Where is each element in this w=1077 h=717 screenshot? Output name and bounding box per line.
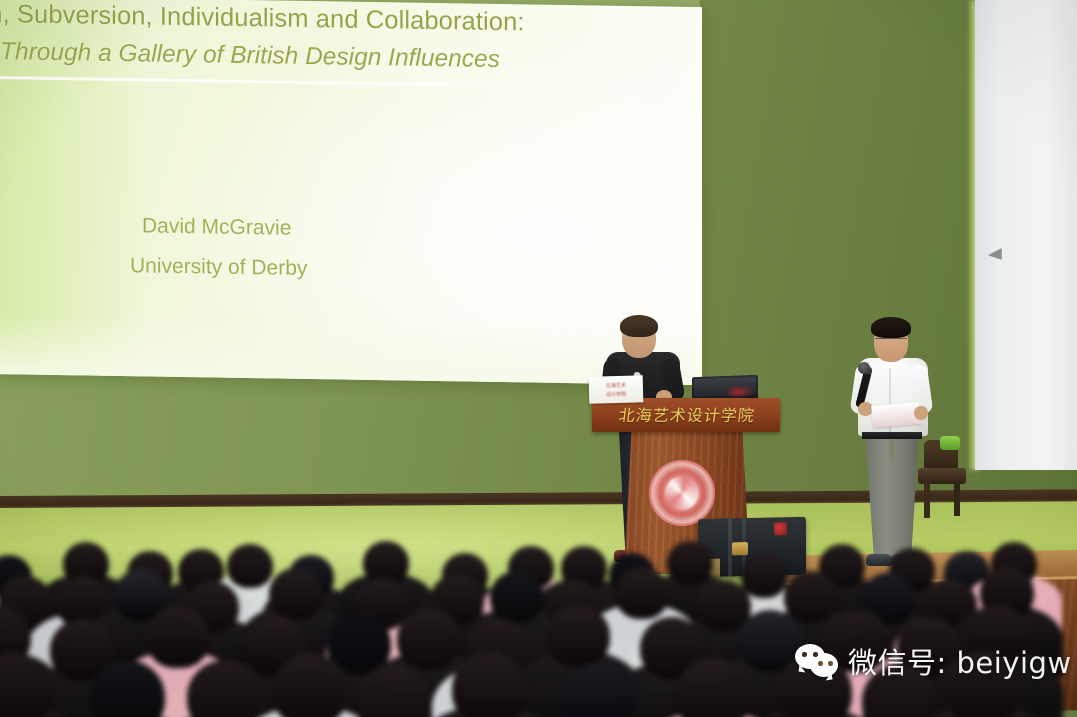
speaker-name-card: 北海艺术 设计学院 <box>589 375 644 403</box>
wechat-watermark-text: 微信号: beiyigw <box>848 640 1072 682</box>
slide-presenter-affiliation: University of Derby <box>130 254 307 281</box>
wechat-logo-icon <box>795 644 839 678</box>
wechat-eye <box>813 652 818 657</box>
audience-head <box>741 554 787 598</box>
name-card-line-2: 设计学院 <box>589 390 643 400</box>
academy-emblem <box>649 460 715 526</box>
wechat-eye <box>818 661 823 666</box>
speaker-belt <box>862 432 922 439</box>
audience-head <box>146 606 210 668</box>
speaker-with-microphone <box>852 318 952 574</box>
screen-bottom-fade <box>0 314 702 385</box>
speaker-hand-holding-paper <box>914 406 928 420</box>
audience-head <box>615 567 669 619</box>
lectern-red-marker <box>728 386 754 398</box>
wechat-eye <box>802 652 807 657</box>
wechat-eye <box>828 661 833 666</box>
case-logo-badge <box>774 522 787 535</box>
audience-crowd <box>0 540 1077 717</box>
audience-head <box>784 571 838 623</box>
audience-head <box>397 608 461 670</box>
lectern-calligraphy: 北海艺术设计学院 <box>601 402 774 426</box>
audience-head <box>227 544 273 588</box>
projection-screen: on, Subversion, Individualism and Collab… <box>0 0 702 385</box>
wall-column <box>975 0 1077 470</box>
slide-presenter-name: David McGravie <box>142 214 291 240</box>
glasses-icon <box>875 338 907 346</box>
audience-head <box>490 571 544 623</box>
presenter-hair <box>620 315 658 337</box>
speaker-name-card-text: 北海艺术 设计学院 <box>589 381 643 399</box>
audience-head <box>269 568 323 620</box>
audience-head <box>667 541 713 585</box>
speaker-hair <box>871 317 911 338</box>
wechat-watermark: 微信号: beiyigw <box>795 640 1072 682</box>
chair-leg <box>954 482 960 516</box>
audience-head <box>546 605 610 667</box>
presentation-photo: on, Subversion, Individualism and Collab… <box>0 0 1077 717</box>
academy-emblem-swirl <box>665 476 699 510</box>
